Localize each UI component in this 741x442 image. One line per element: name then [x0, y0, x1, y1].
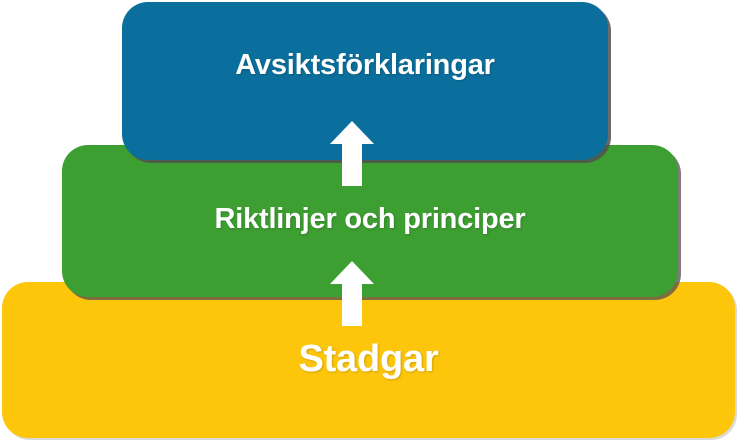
tier-box-avsiktsforklaringar[interactable]: Avsiktsförklaringar	[122, 2, 608, 160]
tier-label-avsiktsforklaringar: Avsiktsförklaringar	[235, 51, 494, 80]
tier-box-stadgar[interactable]: Stadgar	[2, 282, 735, 438]
tier-box-riktlinjer-och-principer[interactable]: Riktlinjer och principer	[62, 145, 678, 297]
tier-label-riktlinjer-och-principer: Riktlinjer och principer	[214, 205, 525, 234]
diagram-canvas: Stadgar Riktlinjer och principer Avsikts…	[0, 0, 741, 442]
tier-label-stadgar: Stadgar	[298, 340, 438, 378]
